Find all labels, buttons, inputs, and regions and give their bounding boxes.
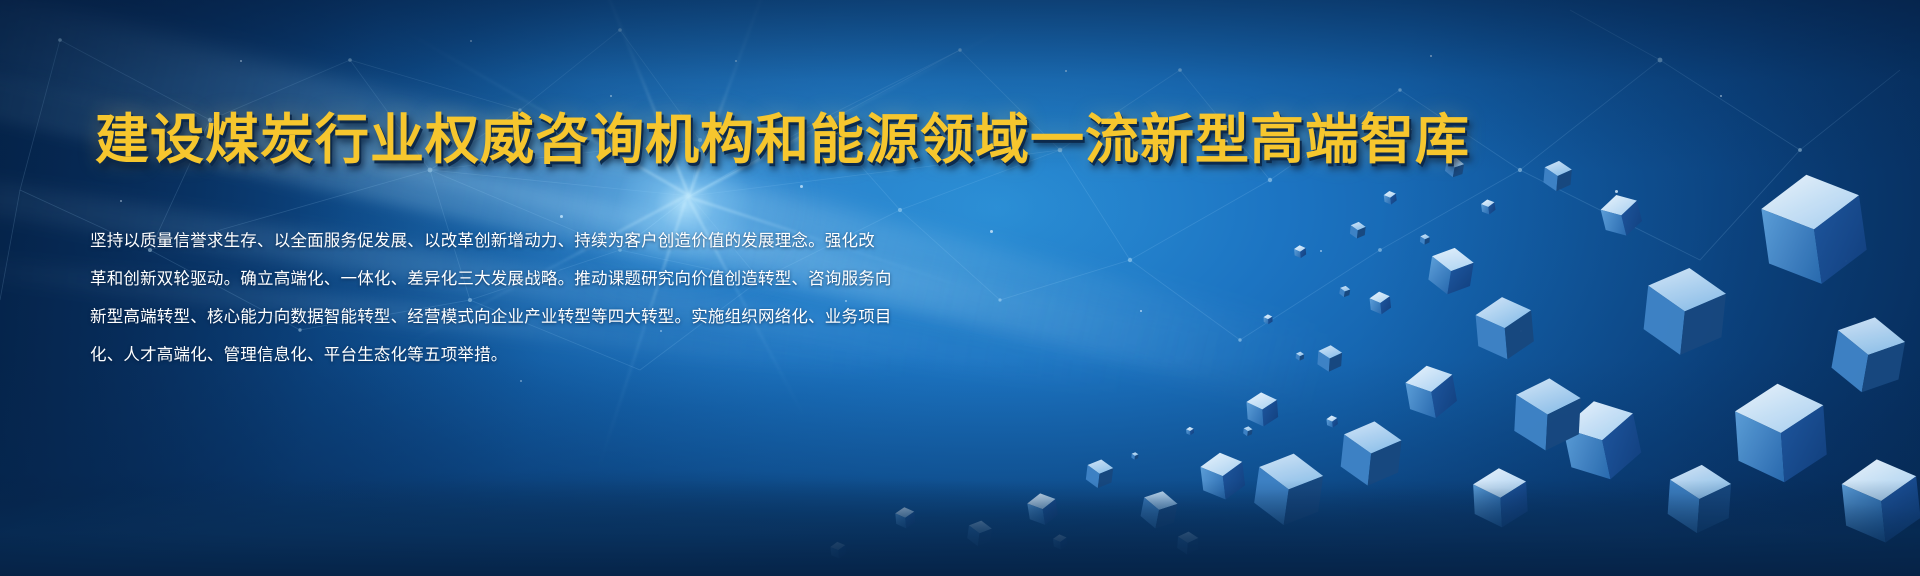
banner-body-text: 坚持以质量信誉求生存、以全面服务促发展、以改革创新增动力、持续为客户创造价值的发… (90, 222, 920, 374)
body-line: 革和创新双轮驱动。确立高端化、一体化、差异化三大发展战略。推动课题研究向价值创造… (90, 260, 920, 298)
hero-banner: 建设煤炭行业权威咨询机构和能源领域一流新型高端智库 坚持以质量信誉求生存、以全面… (0, 0, 1920, 576)
body-line: 化、人才高端化、管理信息化、平台生态化等五项举措。 (90, 336, 920, 374)
banner-title: 建设煤炭行业权威咨询机构和能源领域一流新型高端智库 (95, 95, 1470, 174)
body-line: 坚持以质量信誉求生存、以全面服务促发展、以改革创新增动力、持续为客户创造价值的发… (90, 222, 920, 260)
dune-layer-front (0, 480, 1920, 576)
body-line: 新型高端转型、核心能力向数据智能转型、经营模式向企业产业转型等四大转型。实施组织… (90, 298, 920, 336)
